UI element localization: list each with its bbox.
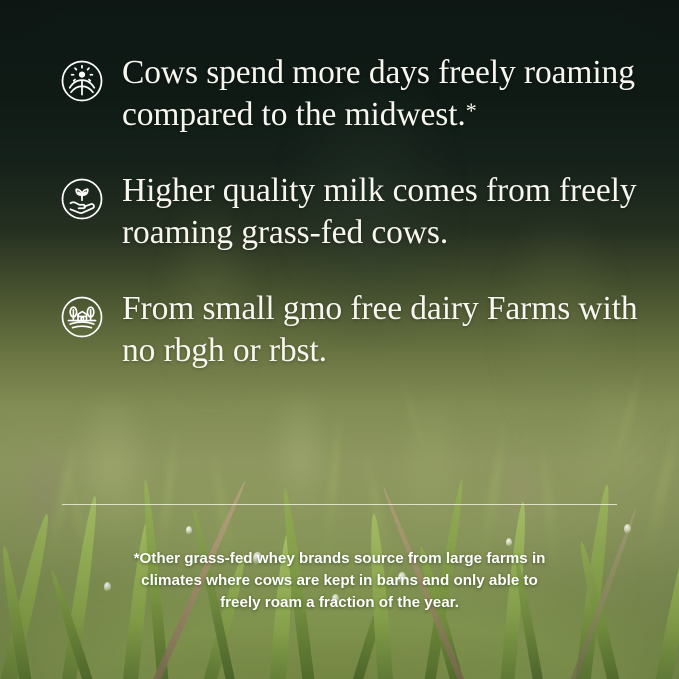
bullet-list: Cows spend more days freely roaming comp… xyxy=(0,52,679,406)
footnote-marker: * xyxy=(466,98,477,123)
farm-barn-field-icon xyxy=(60,295,104,339)
divider xyxy=(62,504,617,505)
bullet-item-roaming: Cows spend more days freely roaming comp… xyxy=(0,52,679,136)
bullet-text: Higher quality milk comes from freely ro… xyxy=(122,170,643,254)
footnote-text: *Other grass-fed whey brands source from… xyxy=(125,548,555,614)
bullet-text-value: Cows spend more days freely roaming comp… xyxy=(122,54,635,133)
sun-over-field-icon xyxy=(60,59,104,103)
product-info-poster: Cows spend more days freely roaming comp… xyxy=(0,0,679,679)
hand-holding-plant-icon xyxy=(60,177,104,221)
bullet-item-small-farms: From small gmo free dairy Farms with no … xyxy=(0,288,679,372)
bullet-item-quality-milk: Higher quality milk comes from freely ro… xyxy=(0,170,679,254)
bullet-text-value: From small gmo free dairy Farms with no … xyxy=(122,290,638,369)
poster-content: Cows spend more days freely roaming comp… xyxy=(0,0,679,679)
bullet-text: From small gmo free dairy Farms with no … xyxy=(122,288,643,372)
bullet-text: Cows spend more days freely roaming comp… xyxy=(122,52,643,136)
bullet-text-value: Higher quality milk comes from freely ro… xyxy=(122,172,636,251)
